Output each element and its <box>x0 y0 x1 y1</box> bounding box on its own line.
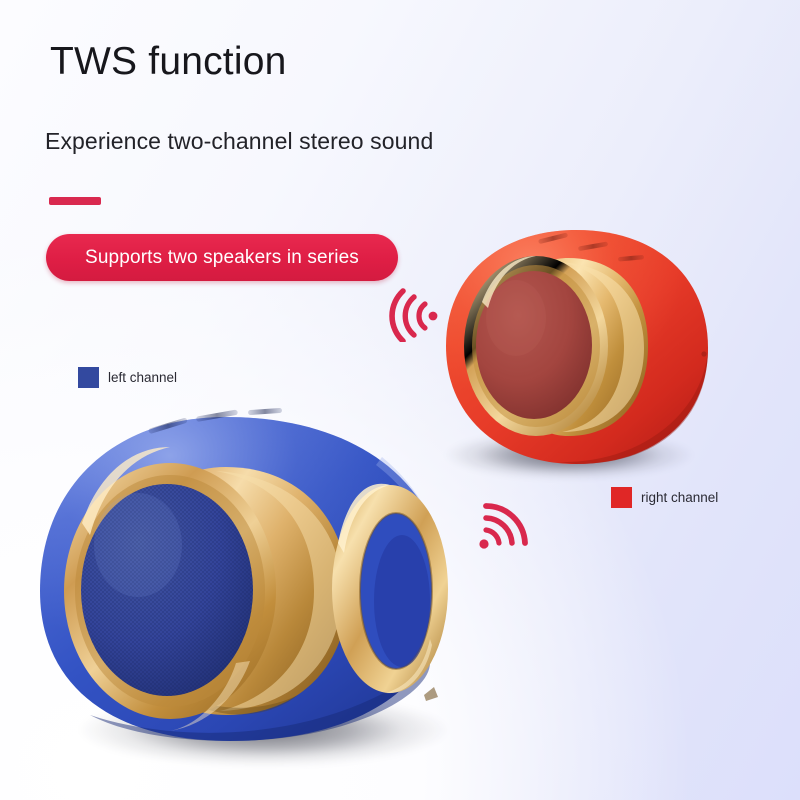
subtitle: Experience two-channel stereo sound <box>45 128 433 155</box>
product-feature-banner: TWS function Experience two-channel ster… <box>0 0 800 800</box>
legend-swatch-blue <box>78 367 99 388</box>
feature-badge: Supports two speakers in series <box>46 234 398 281</box>
legend-left-channel: left channel <box>78 367 177 388</box>
legend-right-channel-label: right channel <box>641 490 718 505</box>
legend-right-channel: right channel <box>611 487 718 508</box>
speaker-port-red <box>701 351 706 356</box>
page-title: TWS function <box>50 40 286 84</box>
legend-left-channel-label: left channel <box>108 370 177 385</box>
legend-swatch-red <box>611 487 632 508</box>
accent-dash <box>49 197 101 205</box>
bluetooth-speaker-blue <box>30 395 500 770</box>
feature-badge-label: Supports two speakers in series <box>85 247 359 269</box>
